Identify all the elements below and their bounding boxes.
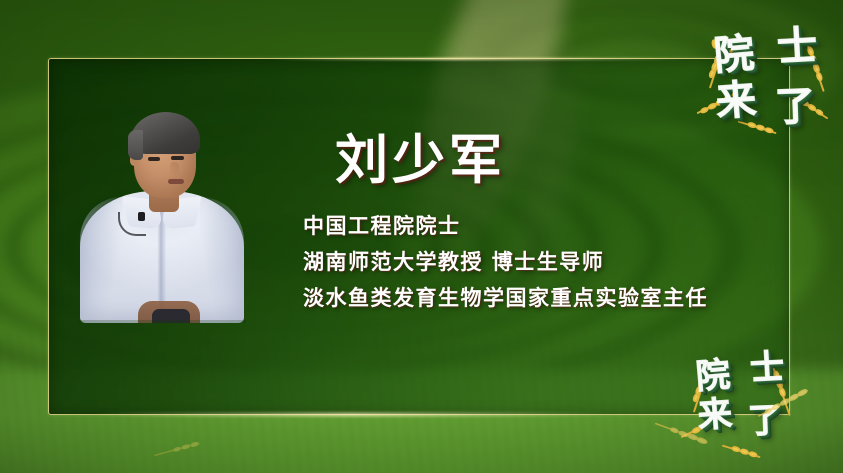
credential-line-2: 湖南师范大学教授 博士生导师 — [303, 248, 708, 276]
portrait-mouth — [168, 179, 184, 184]
logo-char-shi: 士 — [749, 350, 785, 386]
video-frame: 刘少军 中国工程院院士 湖南师范大学教授 博士生导师 淡水鱼类发育生物学国家重点… — [0, 0, 843, 473]
program-logo-bottom-right: 院 士 来 了 — [679, 348, 799, 442]
portrait-bottom-edge — [78, 320, 246, 323]
logo-char-yuan: 院 — [712, 33, 755, 76]
frame-glow-bottom-edge — [93, 413, 611, 416]
guest-name: 刘少军 — [335, 134, 506, 187]
portrait-eye-right — [171, 156, 184, 160]
portrait-hair-side — [128, 130, 143, 160]
credential-line-3: 淡水鱼类发育生物学国家重点实验室主任 — [303, 284, 708, 312]
logo-char-yuan: 院 — [695, 357, 732, 394]
logo-char-le: 了 — [747, 403, 782, 438]
logo-char-shi: 士 — [775, 26, 817, 68]
guest-portrait — [78, 108, 246, 323]
shirt-shadow-left — [80, 197, 122, 323]
portrait-nose — [170, 162, 179, 175]
program-logo-top-right: 院 士 来 了 — [695, 24, 833, 132]
portrait-eye-left — [148, 157, 160, 161]
program-logo-text: 院 士 来 了 — [679, 348, 799, 442]
logo-char-lai: 来 — [714, 80, 757, 123]
lapel-mic-icon — [138, 212, 145, 221]
program-logo-text: 院 士 来 了 — [695, 24, 833, 132]
credential-line-1: 中国工程院院士 — [303, 212, 708, 240]
logo-char-lai: 来 — [697, 396, 733, 432]
frame-glow-top-edge — [271, 58, 685, 60]
logo-char-le: 了 — [774, 86, 815, 127]
guest-credentials: 中国工程院院士 湖南师范大学教授 博士生导师 淡水鱼类发育生物学国家重点实验室主… — [303, 212, 708, 312]
